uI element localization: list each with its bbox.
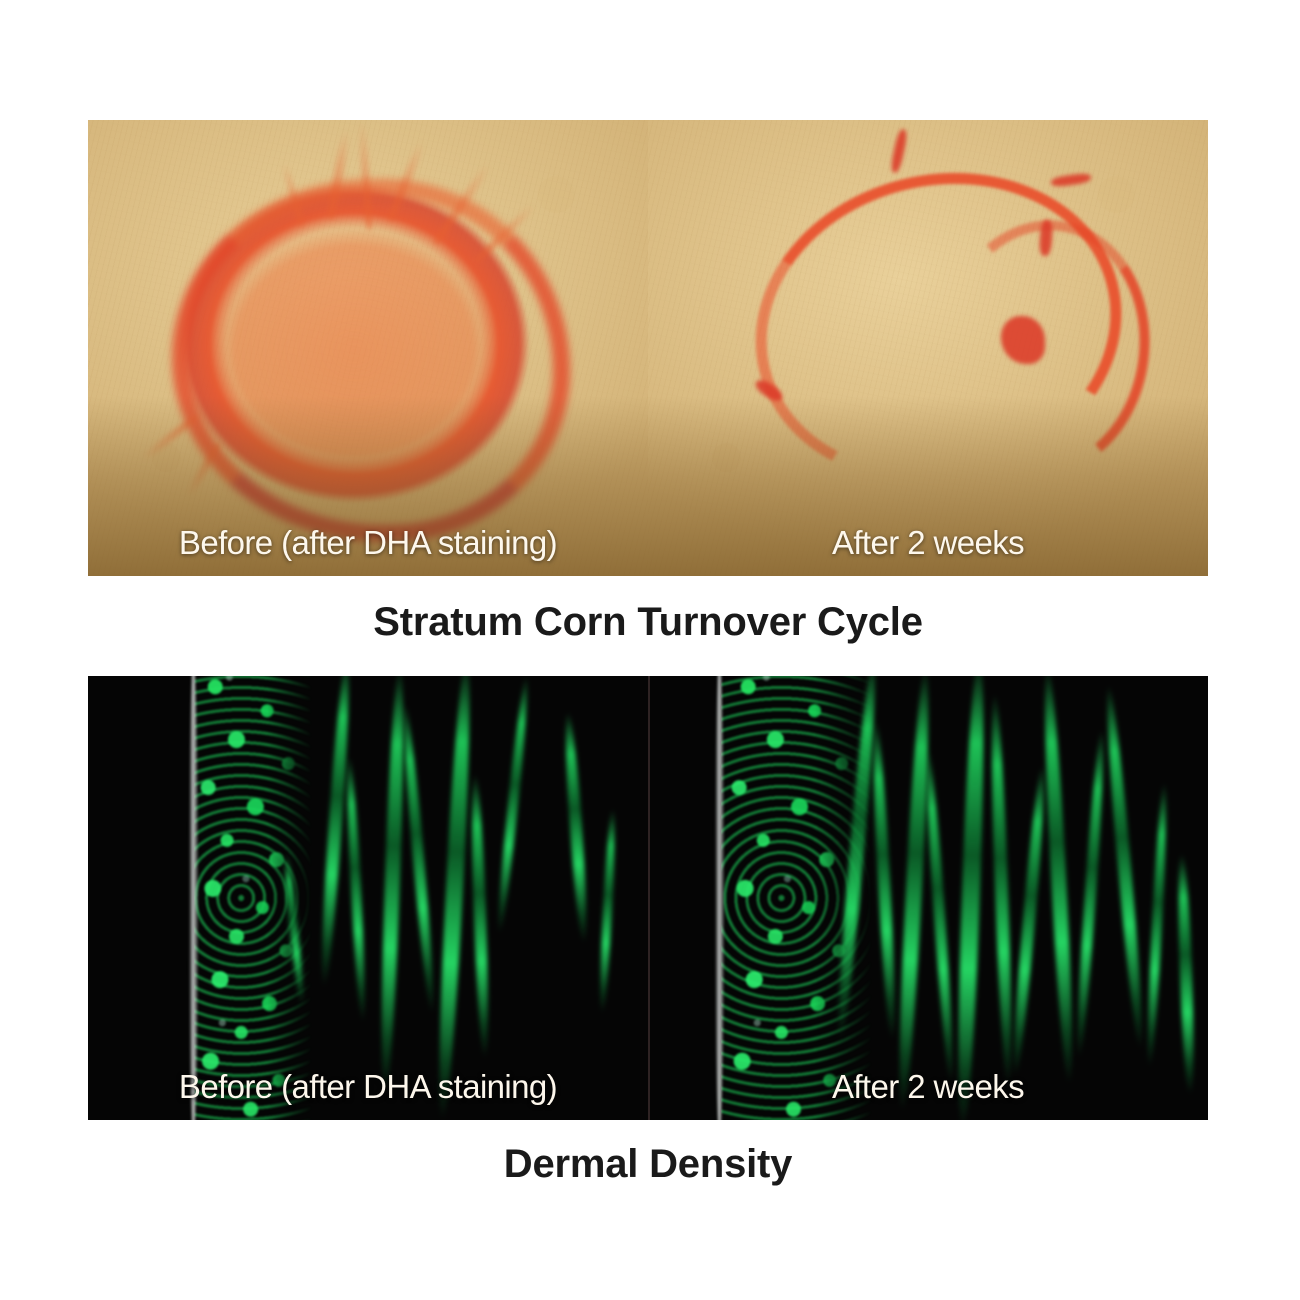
dermal-title: Dermal Density bbox=[88, 1144, 1208, 1184]
collagen-fiber bbox=[869, 720, 898, 1040]
dermal-result-block: Before (after DHA staining) After bbox=[88, 676, 1208, 1184]
dha-stain-ring bbox=[172, 179, 570, 541]
collagen-fiber bbox=[894, 676, 933, 1111]
collagen-fiber bbox=[1010, 765, 1049, 1076]
dermal-before-panel: Before (after DHA staining) bbox=[88, 676, 648, 1120]
epidermis-cell-layer bbox=[721, 676, 872, 1120]
collagen-fiber bbox=[1176, 853, 1196, 1093]
collagen-fiber bbox=[1040, 676, 1077, 1085]
results-page: Before (after DHA staining) After 2 week… bbox=[0, 0, 1300, 1300]
turnover-result-block: Before (after DHA staining) After 2 week… bbox=[88, 120, 1208, 642]
collagen-fiber bbox=[1145, 782, 1170, 1066]
dermal-image-pair: Before (after DHA staining) After bbox=[88, 676, 1208, 1120]
collagen-fiber bbox=[434, 676, 475, 1120]
collagen-fiber bbox=[1073, 729, 1107, 1058]
collagen-fiber bbox=[922, 747, 957, 1084]
collagen-fiber bbox=[988, 694, 1015, 1085]
dermal-after-panel: After 2 weeks bbox=[648, 676, 1208, 1120]
collagen-fiber bbox=[953, 676, 987, 1120]
dermal-before-caption: Before (after DHA staining) bbox=[88, 1068, 648, 1106]
turnover-after-caption: After 2 weeks bbox=[648, 524, 1208, 562]
dha-spray-streak bbox=[185, 442, 222, 499]
epidermis-edge-line bbox=[189, 676, 198, 1120]
epidermis-edge-line bbox=[715, 676, 724, 1120]
turnover-before-panel: Before (after DHA staining) bbox=[88, 120, 648, 576]
turnover-before-caption: Before (after DHA staining) bbox=[88, 524, 648, 562]
turnover-image-pair: Before (after DHA staining) After 2 week… bbox=[88, 120, 1208, 576]
collagen-fiber bbox=[598, 809, 618, 1013]
epidermis-cell-layer bbox=[194, 676, 312, 1120]
collagen-fiber bbox=[399, 703, 437, 1014]
turnover-after-panel: After 2 weeks bbox=[648, 120, 1208, 576]
dermal-panel-divider bbox=[648, 676, 650, 1120]
collagen-fiber bbox=[495, 676, 532, 933]
collagen-fiber bbox=[344, 756, 368, 1023]
turnover-title: Stratum Corn Turnover Cycle bbox=[88, 602, 1208, 642]
collagen-fiber bbox=[377, 676, 407, 1093]
collagen-fiber bbox=[469, 774, 491, 1058]
dha-spray-streak bbox=[140, 413, 199, 462]
collagen-fiber bbox=[562, 711, 590, 942]
collagen-fiber bbox=[1103, 685, 1148, 1049]
